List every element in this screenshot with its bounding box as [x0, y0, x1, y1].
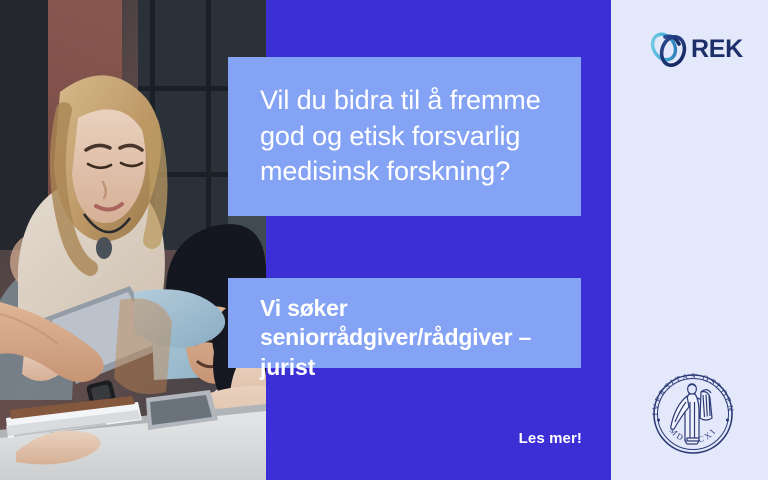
team-photo-illustration: [0, 0, 266, 480]
rek-logo[interactable]: REK: [648, 26, 740, 72]
university-of-oslo-seal: UNIVERSITAS OSLOENSIS MDCCCXI: [645, 366, 741, 462]
read-more-link[interactable]: Les mer!: [462, 430, 582, 447]
job-title-text: Vi søker seniorrådgiver/rådgiver – juris…: [260, 294, 563, 382]
headline-box: Vil du bidra til å fremme god og etisk f…: [228, 57, 581, 216]
team-photo: [0, 0, 266, 480]
rek-wordmark: REK: [691, 37, 743, 62]
recruitment-banner: REK UNIVERSITAS OSLOENSIS MDCCCXI: [0, 0, 768, 480]
rek-interlocking-rings-icon: [648, 27, 690, 71]
uio-seal-icon: UNIVERSITAS OSLOENSIS MDCCCXI: [645, 366, 741, 462]
job-title-box: Vi søker seniorrådgiver/rådgiver – juris…: [228, 278, 581, 368]
headline-text: Vil du bidra til å fremme god og etisk f…: [260, 83, 553, 190]
